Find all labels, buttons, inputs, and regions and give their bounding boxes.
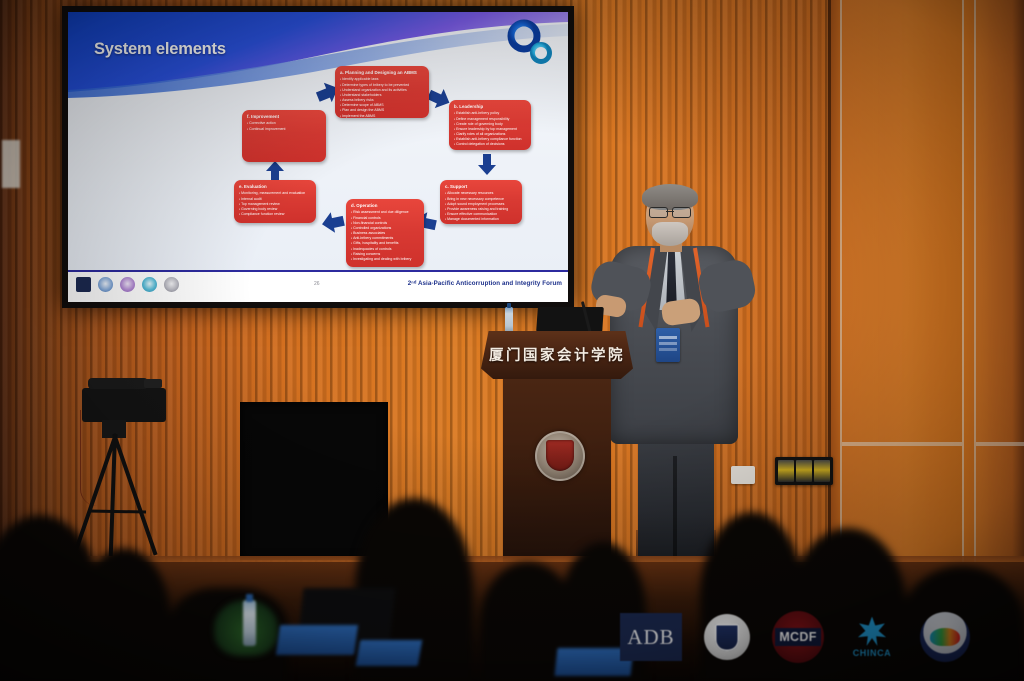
speaker-beard [652, 222, 688, 246]
box-bullets: Corrective action Continual improvement [247, 121, 321, 131]
water-bottle [243, 600, 256, 646]
oecd-logo [120, 277, 135, 292]
podium-laptop [536, 307, 604, 332]
slide-footer-text: 2ⁿᵈ Asia-Pacific Anticorruption and Inte… [408, 280, 562, 287]
box-bullets: Risk assessment and due diligence Financ… [351, 210, 419, 262]
slide-footer-logos [76, 277, 179, 292]
diagram-box-operation: d. Operation Risk assessment and due dil… [346, 199, 424, 267]
nai-seal-logo [704, 614, 750, 660]
photo-scene: System elements [0, 0, 1024, 681]
diagram-box-evaluation: e. Evaluation Monitoring, measurement an… [234, 180, 316, 223]
partner-logo [164, 277, 179, 292]
wall-panel [840, 0, 964, 444]
chinca-logo: CHINCA [846, 611, 898, 663]
box-bullets: Establish anti-bribery policy Define man… [454, 111, 526, 147]
projection-screen-frame: System elements [62, 6, 574, 308]
diagram-box-planning: a. Planning and Designing an ABMS Identi… [335, 66, 429, 118]
box-heading: f. Improvement [247, 114, 321, 120]
glasses-icon [649, 207, 691, 216]
box-heading: b. Leadership [454, 104, 526, 110]
desk-nameplate [356, 640, 423, 666]
projection-screen: System elements [68, 12, 568, 302]
audience-head [78, 548, 170, 681]
diagram-box-support: c. Support Allocate necessary resources … [440, 180, 522, 224]
un-logo [98, 277, 113, 292]
bullet: Compliance function review [239, 212, 311, 217]
box-heading: e. Evaluation [239, 184, 311, 190]
arrow-leadership-to-support [478, 152, 496, 176]
diagram-box-improvement: f. Improvement Corrective action Continu… [242, 110, 326, 162]
box-bullets: Monitoring, measurement and evaluation I… [239, 191, 311, 217]
water-bottle [505, 307, 513, 334]
desk-nameplate [276, 625, 358, 655]
adb-logo-label: ADB [627, 625, 674, 650]
wall-notice [2, 140, 20, 188]
bullet: Investigating and dealing with bribery [351, 257, 419, 262]
arrow-operation-to-evaluation [320, 212, 346, 234]
bullet: Implement the ABMS [340, 114, 424, 118]
box-bullets: Identify applicable laws Determine types… [340, 77, 424, 118]
bullet: Control delegation of decisions [454, 142, 526, 147]
bullet: Monitoring, measurement and evaluation [239, 191, 311, 196]
slide-footer: 26 2ⁿᵈ Asia-Pacific Anticorruption and I… [68, 270, 568, 302]
box-bullets: Allocate necessary resources Bring in ne… [445, 191, 517, 222]
slide-title: System elements [94, 40, 226, 59]
box-heading: c. Support [445, 184, 517, 190]
diagram-box-leadership: b. Leadership Establish anti-bribery pol… [449, 100, 531, 150]
box-heading: d. Operation [351, 203, 419, 209]
presentation-slide: System elements [68, 12, 568, 302]
bullet: Manage documented information [445, 217, 517, 222]
sponsor-logo-bar: ADB MCDF CHINCA [612, 604, 1024, 670]
box-heading: a. Planning and Designing an ABMS [340, 70, 424, 76]
speaker-name-badge [656, 328, 680, 362]
bullet: Continual improvement [247, 127, 321, 132]
chinca-logo-label: CHINCA [853, 648, 892, 658]
unodc-logo [142, 277, 157, 292]
mcdf-logo: MCDF [772, 611, 824, 663]
blue-rings-logo [500, 18, 560, 68]
adb-logo [76, 277, 91, 292]
chinca-star-icon [857, 617, 887, 647]
wall-panel [974, 0, 1024, 444]
slide-page-number: 26 [314, 281, 320, 287]
adb-logo: ADB [620, 613, 682, 661]
msrcld-logo [920, 612, 970, 662]
podium-institution-name: 厦门国家会计学院 [481, 344, 633, 365]
mcdf-logo-label: MCDF [775, 628, 820, 646]
